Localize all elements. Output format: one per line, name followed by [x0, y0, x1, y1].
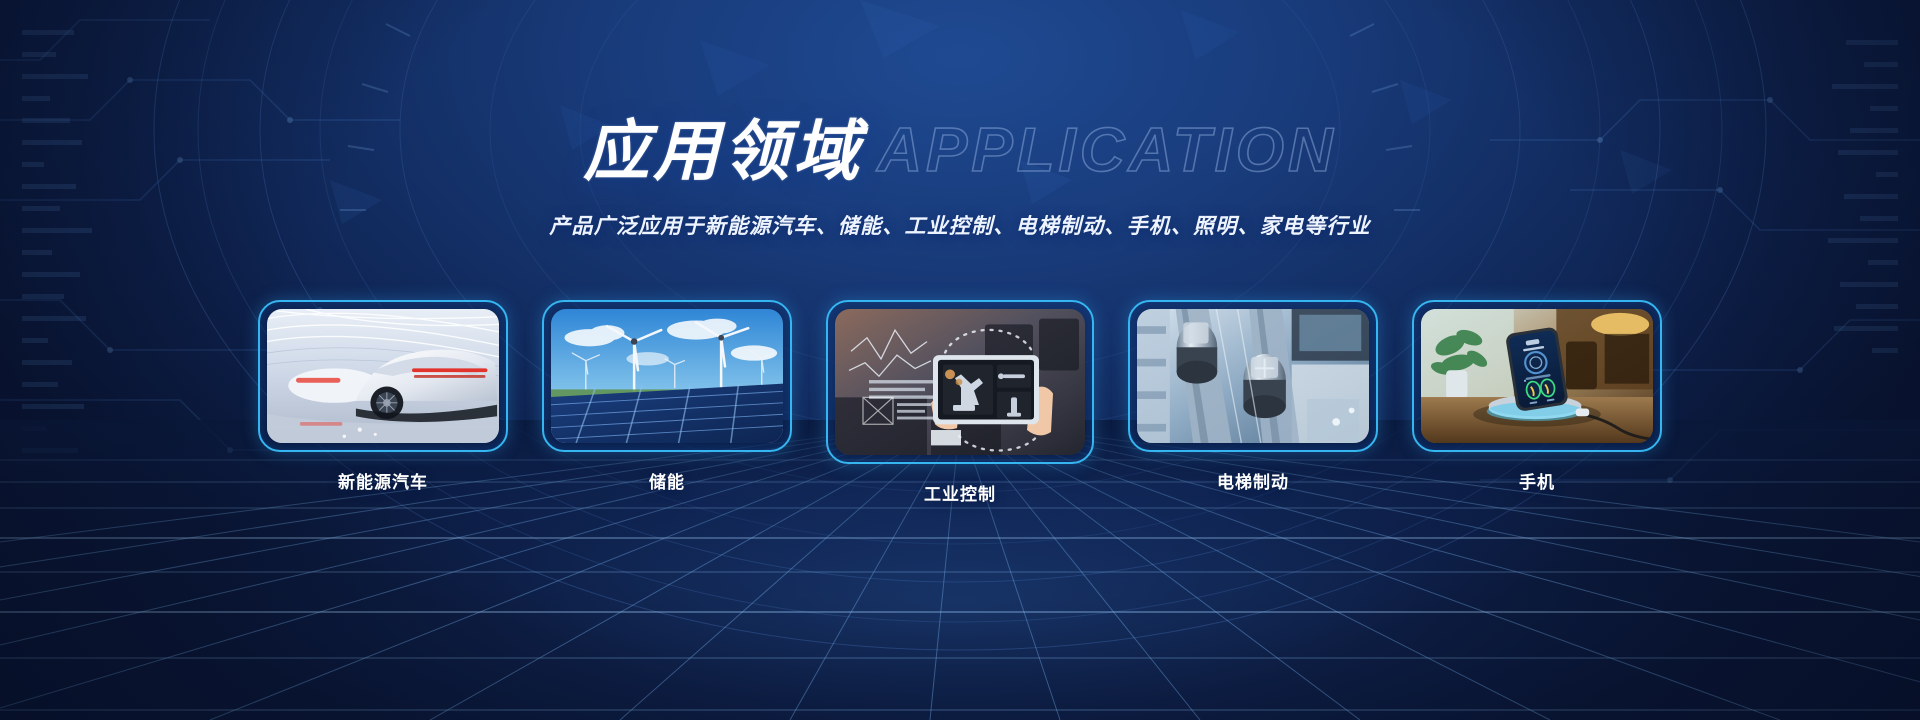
solar-wind-farm-photo	[551, 309, 783, 443]
card-label: 工业控制	[924, 480, 996, 505]
phone-wireless-charger-photo	[1421, 309, 1653, 443]
application-card-elevator-braking[interactable]: 电梯制动	[1128, 300, 1378, 493]
application-banner: 应用领域 APPLICATION 产品广泛应用于新能源汽车、储能、工业控制、电梯…	[0, 0, 1920, 720]
application-card-list: 新能源汽车	[0, 300, 1920, 505]
card-label: 储能	[649, 468, 685, 493]
application-card-mobile-phone[interactable]: 手机	[1412, 300, 1662, 493]
card-label: 电梯制动	[1217, 468, 1289, 493]
page-title-english: APPLICATION	[877, 120, 1337, 182]
card-frame	[258, 300, 508, 452]
card-frame	[542, 300, 792, 452]
application-card-energy-storage[interactable]: 储能	[542, 300, 792, 493]
application-card-industrial-control[interactable]: 工业控制	[826, 300, 1094, 505]
banner-subtitle: 产品广泛应用于新能源汽车、储能、工业控制、电梯制动、手机、照明、家电等行业	[0, 210, 1920, 240]
glass-elevator-shaft-photo	[1137, 309, 1369, 443]
card-label: 新能源汽车	[338, 468, 428, 493]
page-title: 应用领域	[583, 118, 863, 184]
title-row: 应用领域 APPLICATION	[583, 118, 1337, 184]
banner-header: 应用领域 APPLICATION 产品广泛应用于新能源汽车、储能、工业控制、电梯…	[0, 118, 1920, 240]
application-card-new-energy-vehicle[interactable]: 新能源汽车	[258, 300, 508, 493]
card-frame	[1412, 300, 1662, 452]
card-label: 手机	[1519, 468, 1555, 493]
card-frame	[1128, 300, 1378, 452]
industrial-tablet-hmi-photo	[835, 309, 1085, 455]
electric-sports-car-photo	[267, 309, 499, 443]
card-frame	[826, 300, 1094, 464]
